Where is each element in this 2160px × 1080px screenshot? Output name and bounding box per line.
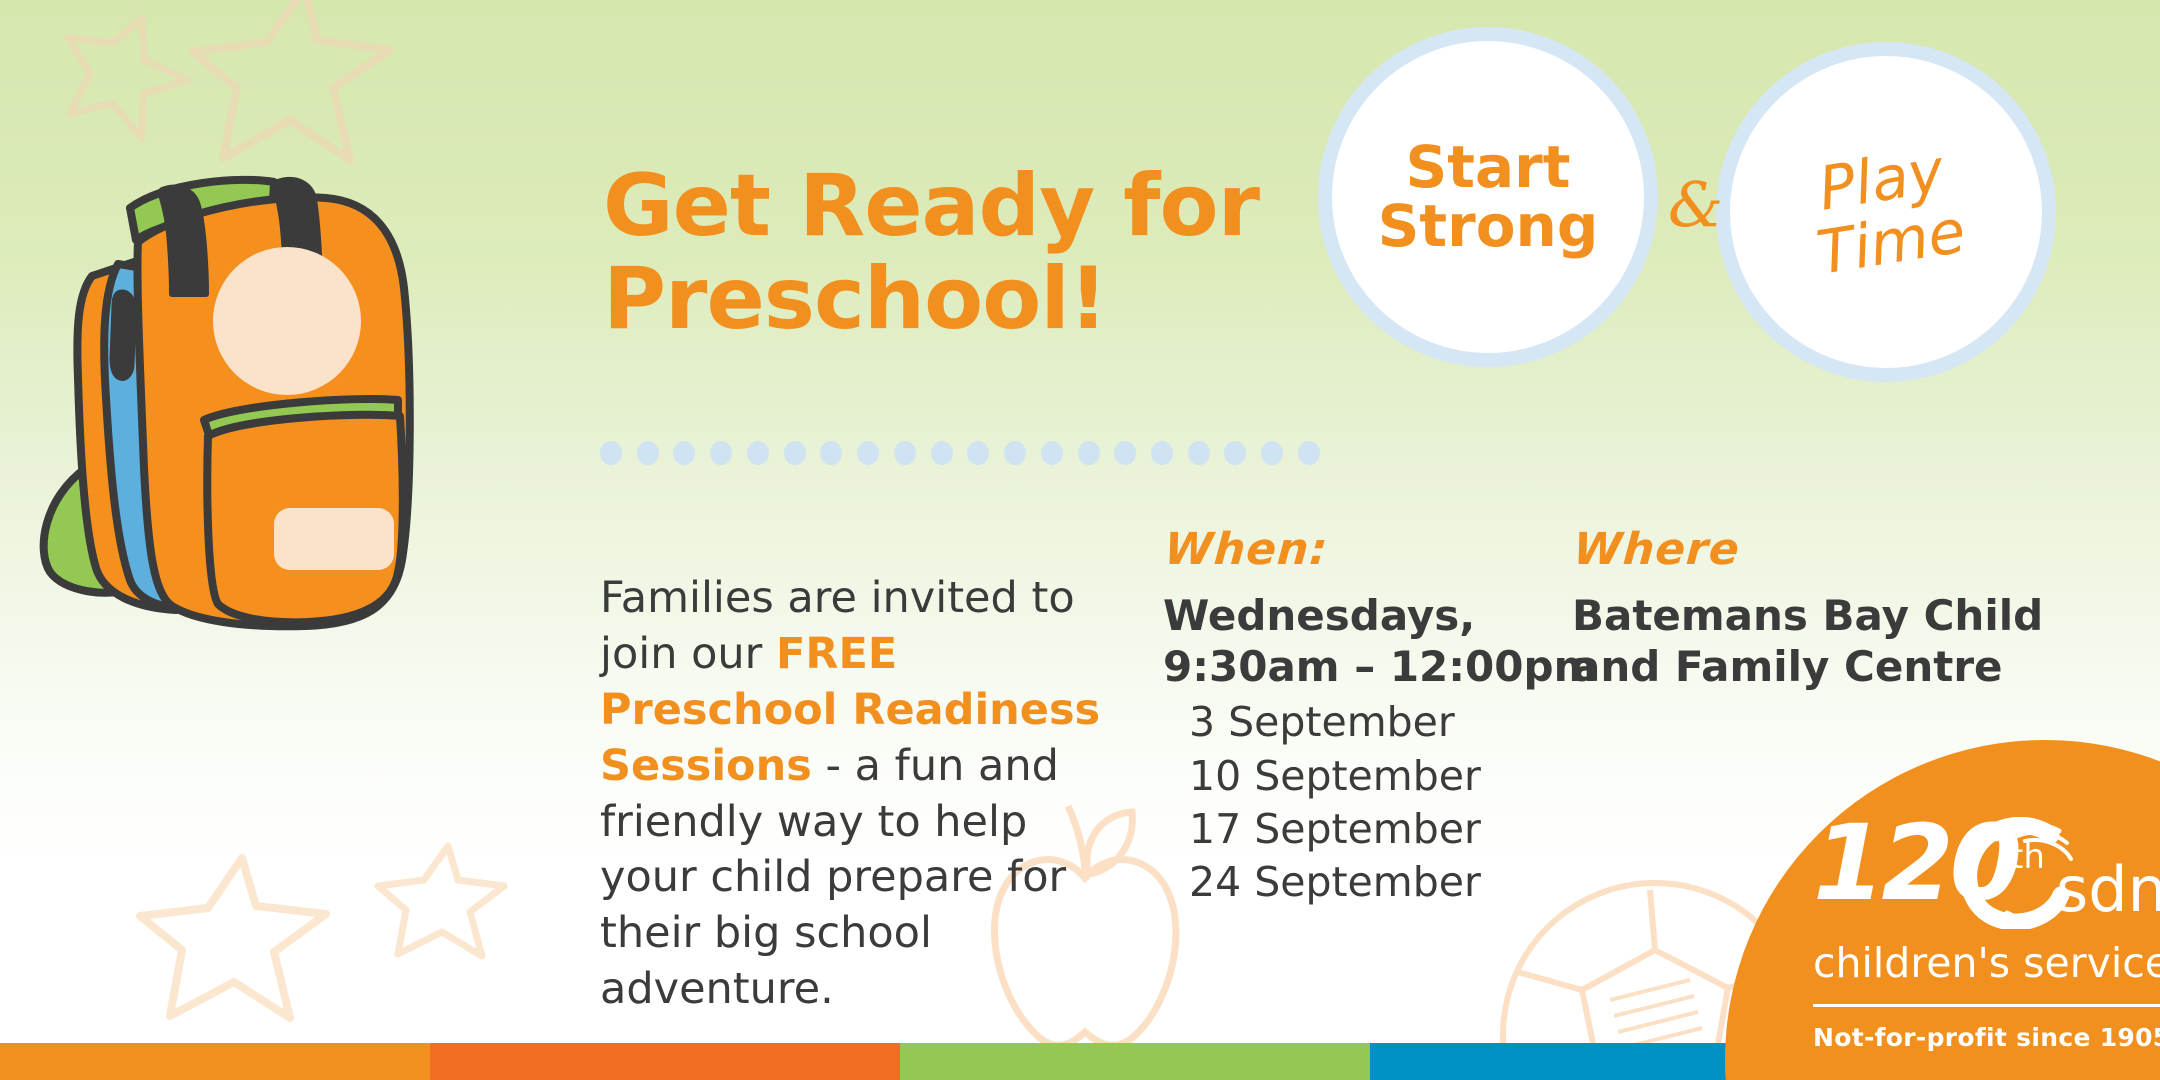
colour-block-orange bbox=[0, 1043, 430, 1080]
where-column: Where Batemans Bay Child and Family Cent… bbox=[1572, 528, 2042, 692]
divider-dot bbox=[967, 441, 989, 465]
page-title: Get Ready for Preschool! bbox=[603, 160, 1303, 346]
divider-dot bbox=[931, 441, 953, 465]
session-date: 17 September bbox=[1189, 803, 1543, 856]
divider-dot bbox=[1261, 441, 1283, 465]
divider-dot bbox=[600, 441, 622, 465]
when-time-line-2: 9:30am – 12:00pm bbox=[1163, 641, 1543, 692]
promotional-banner: Get Ready for Preschool! Families are in… bbox=[0, 0, 2160, 1080]
divider-dot bbox=[784, 441, 806, 465]
star-doodle bbox=[60, 8, 220, 158]
divider-dot bbox=[1004, 441, 1026, 465]
play-time-badge: Play Time bbox=[1716, 42, 2056, 382]
sdn-logo-divider bbox=[1813, 1004, 2160, 1007]
ampersand-symbol: & bbox=[1668, 168, 1723, 241]
headline-line-1: Get Ready for bbox=[603, 160, 1303, 253]
divider-dot bbox=[1151, 441, 1173, 465]
divider-dot bbox=[1114, 441, 1136, 465]
session-date: 3 September bbox=[1189, 696, 1543, 749]
divider-dot bbox=[1298, 441, 1320, 465]
headline-line-2: Preschool! bbox=[603, 253, 1303, 346]
start-strong-badge: Start Strong bbox=[1318, 27, 1658, 367]
when-column: When: Wednesdays, 9:30am – 12:00pm 3 Sep… bbox=[1163, 528, 1543, 910]
star-doodle bbox=[130, 850, 350, 1050]
dotted-divider bbox=[600, 440, 1320, 466]
divider-dot bbox=[820, 441, 842, 465]
sdn-logo-subtitle: children's services bbox=[1813, 943, 2160, 984]
play-time-badge-text: Play Time bbox=[1803, 138, 1970, 286]
colour-block-deep-orange bbox=[430, 1043, 900, 1080]
divider-dot bbox=[1224, 441, 1246, 465]
start-strong-line-1: Start bbox=[1378, 138, 1599, 197]
divider-dot bbox=[637, 441, 659, 465]
start-strong-badge-text: Start Strong bbox=[1378, 138, 1599, 256]
sdn-logo: 120 th sdn children's services Not-for-p… bbox=[1725, 740, 2160, 1080]
where-heading: Where bbox=[1572, 528, 2045, 572]
start-strong-line-2: Strong bbox=[1378, 197, 1599, 256]
session-date: 24 September bbox=[1189, 856, 1543, 909]
session-date: 10 September bbox=[1189, 750, 1543, 803]
when-heading: When: bbox=[1163, 528, 1546, 572]
sdn-logo-ordinal: th bbox=[2010, 837, 2045, 877]
divider-dot bbox=[747, 441, 769, 465]
venue-line-1: Batemans Bay Child bbox=[1572, 590, 2042, 641]
sdn-logo-brand: sdn bbox=[2056, 859, 2160, 921]
divider-dot bbox=[673, 441, 695, 465]
divider-dot bbox=[857, 441, 879, 465]
colour-block-green bbox=[900, 1043, 1370, 1080]
backpack-illustration bbox=[26, 168, 446, 638]
intro-paragraph: Families are invited to join our FREE Pr… bbox=[600, 571, 1110, 1018]
colour-block-blue bbox=[1370, 1043, 1780, 1080]
when-time-line-1: Wednesdays, bbox=[1163, 590, 1543, 641]
divider-dot bbox=[1188, 441, 1210, 465]
venue-line-2: and Family Centre bbox=[1572, 641, 2042, 692]
session-date-list: 3 September 10 September 17 September 24… bbox=[1189, 696, 1543, 909]
divider-dot bbox=[1078, 441, 1100, 465]
divider-dot bbox=[894, 441, 916, 465]
sdn-logo-tagline: Not-for-profit since 1905 bbox=[1813, 1023, 2160, 1052]
sdn-logo-wordmark: 120 th sdn bbox=[1813, 815, 2160, 933]
sdn-logo-number: 120 bbox=[1813, 811, 2018, 915]
divider-dot bbox=[1041, 441, 1063, 465]
sdn-logo-content: 120 th sdn children's services Not-for-p… bbox=[1813, 815, 2160, 1052]
star-doodle bbox=[370, 840, 520, 980]
divider-dot bbox=[710, 441, 732, 465]
